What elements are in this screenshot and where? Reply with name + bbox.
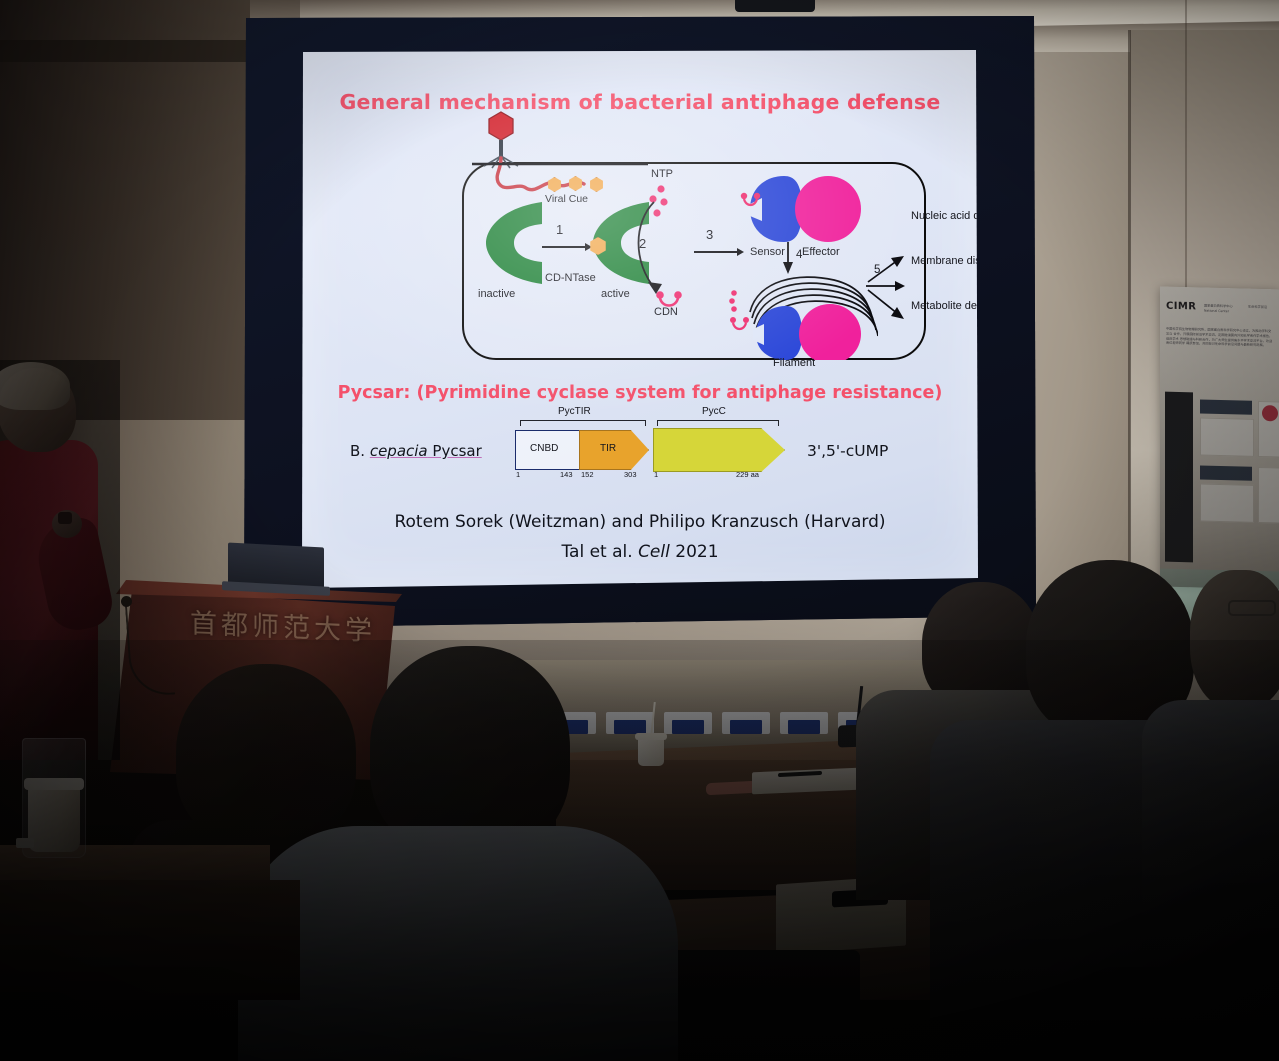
step-3-arrow-head [737, 248, 744, 256]
cimr-logo-text: CIMR [1166, 301, 1196, 313]
ceiling-projector-device [735, 0, 815, 12]
coord-2-start: 1 [654, 470, 658, 479]
ambient-darkening [0, 640, 1279, 1061]
eyeglasses-icon [1228, 600, 1276, 616]
slide-subtitle: Pycsar: (Pyrimidine cyclase system for a… [302, 383, 978, 403]
cimr-logo: CIMR [1166, 301, 1196, 313]
label-inactive: inactive [478, 288, 515, 300]
citation-journal: Cell [638, 542, 670, 562]
product-cump-label: 3',5'-cUMP [807, 442, 888, 460]
lectern-microphone-head [121, 596, 132, 607]
label-viral-cue: Viral Cue [545, 193, 588, 205]
poster-sidebar [1165, 392, 1193, 563]
credit-authors: Rotem Sorek (Weitzman) and Philipo Kranz… [302, 512, 978, 532]
credit-citation: Tal et al. Cell 2021 [302, 542, 978, 562]
wall-seam-secondary [1185, 0, 1187, 300]
pyctir-top-label: PycTIR [558, 406, 591, 417]
pycc-gene-arrow [653, 428, 785, 472]
presenter-clicker [58, 512, 72, 524]
step-1-arrow-line [542, 246, 586, 248]
filament-structure [738, 266, 878, 360]
label-sensor: Sensor [750, 246, 785, 258]
organism-species: cepacia [370, 442, 428, 460]
left-soffit [0, 40, 250, 62]
step-3-number: 3 [706, 227, 713, 242]
poster-content: CIMR 国家蛋白质科学中心National Center 生命科学前沿 中国科… [1160, 287, 1279, 590]
presentation-slide: General mechanism of bacterial antiphage… [302, 50, 978, 588]
coord-303: 303 [624, 470, 637, 479]
poster-header-text-zh: 国家蛋白质科学中心National Center [1204, 304, 1233, 314]
poster-title-zh: 生命科学前沿 [1248, 305, 1267, 310]
poster-accent-circle [1262, 405, 1278, 421]
organism-label: B. cepacia Pycsar [350, 442, 482, 460]
wall-poster: CIMR 国家蛋白质科学中心National Center 生命科学前沿 中国科… [1160, 287, 1279, 590]
poster-section-header-2 [1200, 466, 1252, 481]
coord-143: 143 [560, 470, 573, 479]
step-2-number: 2 [639, 236, 646, 251]
cnbd-domain-label: CNBD [530, 443, 558, 454]
step-1-number: 1 [556, 222, 563, 237]
step-3-arrow-line [694, 251, 738, 253]
pycc-top-label: PycC [702, 406, 726, 417]
gene-architecture-diagram: B. cepacia Pycsar PycTIR PycC CNBD TIR 1… [302, 420, 978, 490]
pyctir-bracket [520, 420, 646, 426]
cdn-bound-to-sensor-icon [739, 192, 763, 210]
label-active: active [601, 288, 630, 300]
outcome-arrows [858, 230, 914, 352]
left-wall-panel [0, 0, 250, 420]
label-ntp: NTP [651, 168, 673, 180]
coord-1-start: 1 [516, 470, 520, 479]
poster-section-header-1 [1200, 400, 1252, 415]
poster-body-text-zh: 中国科学院生物物理研究所，国家蛋白质科学研究中心设立，为推动学科交叉与 合作，开… [1166, 327, 1274, 349]
sensor-effector-pair [750, 176, 868, 242]
coord-229aa: 229 aa [736, 470, 759, 479]
presenter-hair [0, 362, 70, 410]
organism-genus: B. [350, 442, 370, 460]
citation-pre: Tal et al. [561, 542, 638, 562]
tir-domain-label: TIR [600, 443, 616, 454]
label-cdn: CDN [654, 306, 678, 318]
label-cd-ntase: CD-NTase [545, 272, 596, 284]
pycc-bracket [657, 420, 779, 426]
coord-152: 152 [581, 470, 594, 479]
organism-system: Pycsar [428, 442, 482, 460]
citation-year: 2021 [670, 542, 719, 562]
cdn-bound-filament-icon [727, 290, 753, 336]
label-effector: Effector [802, 246, 840, 258]
poster-card-2 [1200, 484, 1254, 523]
poster-card-4 [1258, 467, 1279, 524]
label-filament: Filament [773, 357, 815, 369]
poster-card-1 [1200, 418, 1254, 457]
lecture-hall-photo: General mechanism of bacterial antiphage… [0, 0, 1279, 1061]
